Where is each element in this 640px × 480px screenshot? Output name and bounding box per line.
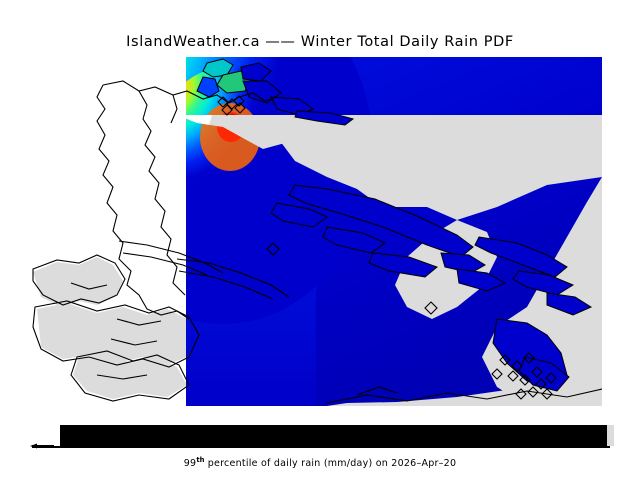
map-canvas[interactable]: [27, 57, 602, 406]
page-title: IslandWeather.ca —— Winter Total Daily R…: [0, 34, 640, 50]
colorbar-caption: 99th percentile of daily rain (mm/day) o…: [0, 456, 640, 469]
colorbar-over-cap: [607, 425, 614, 446]
rain-colorbar[interactable]: [60, 425, 607, 446]
colorbar-axis-line: [32, 446, 610, 448]
colorbar-container[interactable]: [30, 425, 610, 447]
colorbar-under-cap-arrow-icon: [30, 442, 56, 449]
rain-pdf-map[interactable]: [27, 57, 602, 406]
caption-text: percentile of daily rain (mm/day) on 202…: [204, 458, 456, 469]
caption-percentile-number: 99: [184, 458, 197, 469]
